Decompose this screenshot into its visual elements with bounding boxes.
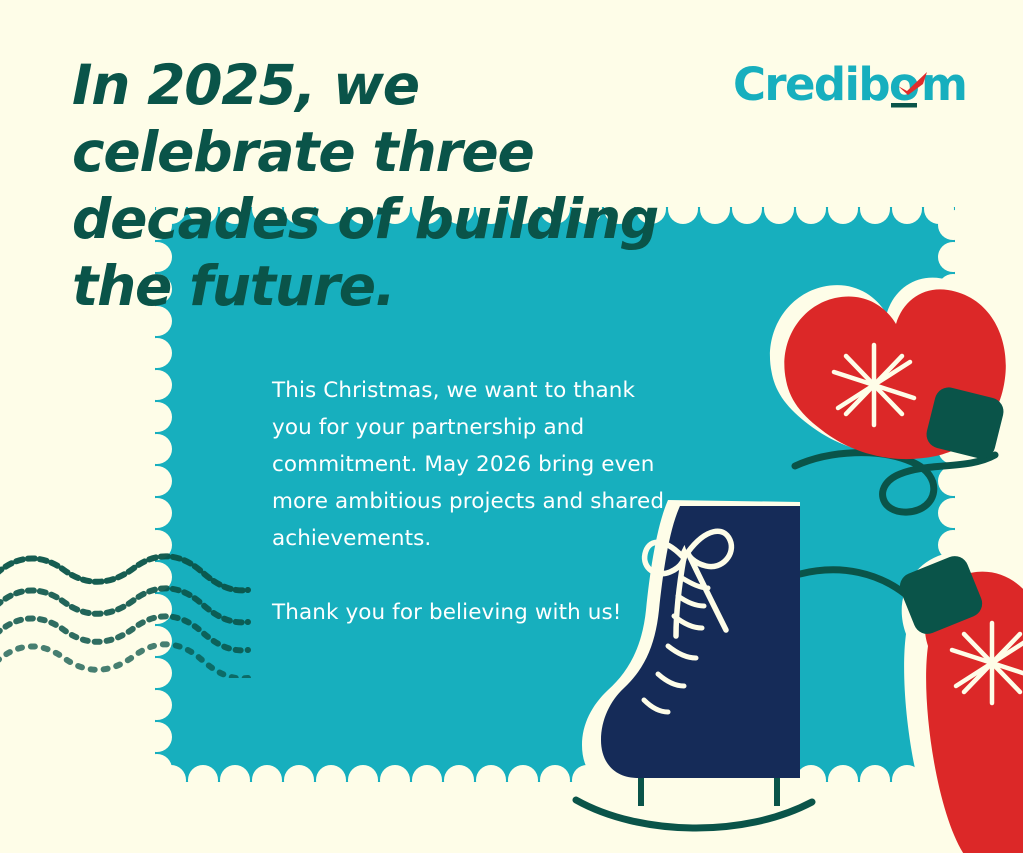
skate-blade bbox=[576, 800, 812, 828]
page-headline: In 2025, we celebrate three decades of b… bbox=[72, 52, 772, 320]
body-paragraph-2: Thank you for believing with us! bbox=[272, 594, 672, 631]
credibom-logo[interactable]: Credib o m bbox=[733, 62, 966, 107]
body-copy: This Christmas, we want to thank you for… bbox=[272, 372, 672, 631]
logo-text-before: Credib bbox=[733, 62, 889, 107]
snowflake-asterisk bbox=[952, 623, 1023, 703]
check-arrow-icon bbox=[898, 72, 927, 95]
christmas-greeting-card: In 2025, we celebrate three decades of b… bbox=[0, 0, 1023, 853]
skate-blade-post-right bbox=[774, 778, 780, 806]
underline-dash-icon bbox=[891, 103, 917, 108]
logo-letter-o-group: o bbox=[889, 62, 921, 107]
skate-blade-post-left bbox=[638, 778, 644, 806]
body-paragraph-1: This Christmas, we want to thank you for… bbox=[272, 372, 672, 557]
